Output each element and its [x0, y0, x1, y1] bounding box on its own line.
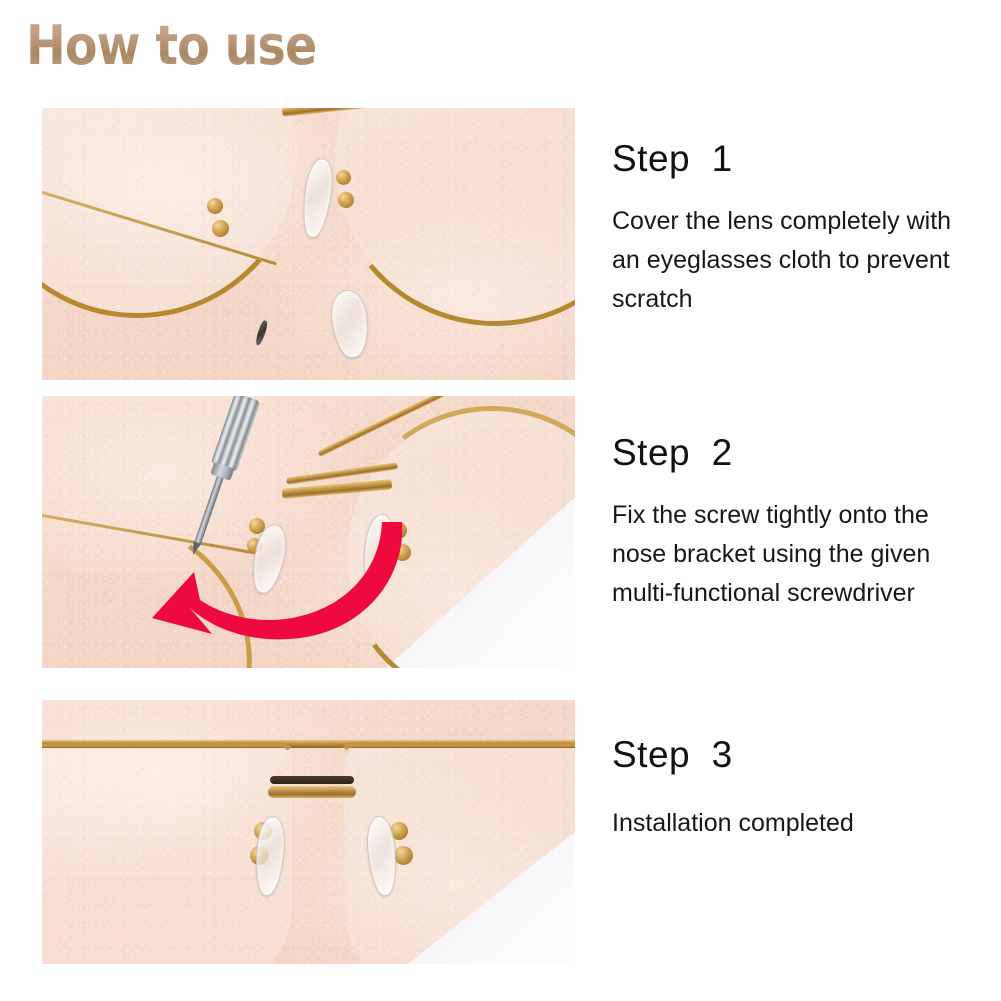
step-1-text: Step 1 Cover the lens completely with an… — [612, 138, 982, 319]
step-3-body: Installation completed — [612, 804, 982, 843]
nose-bracket-right — [336, 170, 351, 185]
nose-bracket-right-lower — [338, 192, 354, 208]
step-row-3: Step 3 Installation completed — [0, 700, 1001, 964]
frame-bridge-top — [270, 776, 354, 784]
step-2-heading: Step 2 — [612, 432, 982, 474]
step-2-body: Fix the screw tightly onto the nose brac… — [612, 496, 982, 613]
step-row-2: Step 2 Fix the screw tightly onto the no… — [0, 396, 1001, 668]
step-3-heading: Step 3 — [612, 734, 982, 776]
red-direction-arrow — [150, 514, 410, 644]
step-3-photo — [42, 700, 575, 964]
nose-bracket-right-lower — [394, 846, 413, 865]
step-1-photo — [42, 108, 575, 380]
step-2-photo — [42, 396, 575, 668]
frame-bridge — [268, 786, 356, 798]
step-3-text: Step 3 Installation completed — [612, 734, 982, 843]
nose-bracket-left — [207, 198, 223, 214]
step-2-text: Step 2 Fix the screw tightly onto the no… — [612, 432, 982, 613]
nose-bracket-left-lower — [212, 220, 229, 237]
page-title: How to use — [26, 16, 316, 76]
step-row-1: Step 1 Cover the lens completely with an… — [0, 108, 1001, 380]
step-1-body: Cover the lens completely with an eyegla… — [612, 202, 982, 319]
step-1-heading: Step 1 — [612, 138, 982, 180]
